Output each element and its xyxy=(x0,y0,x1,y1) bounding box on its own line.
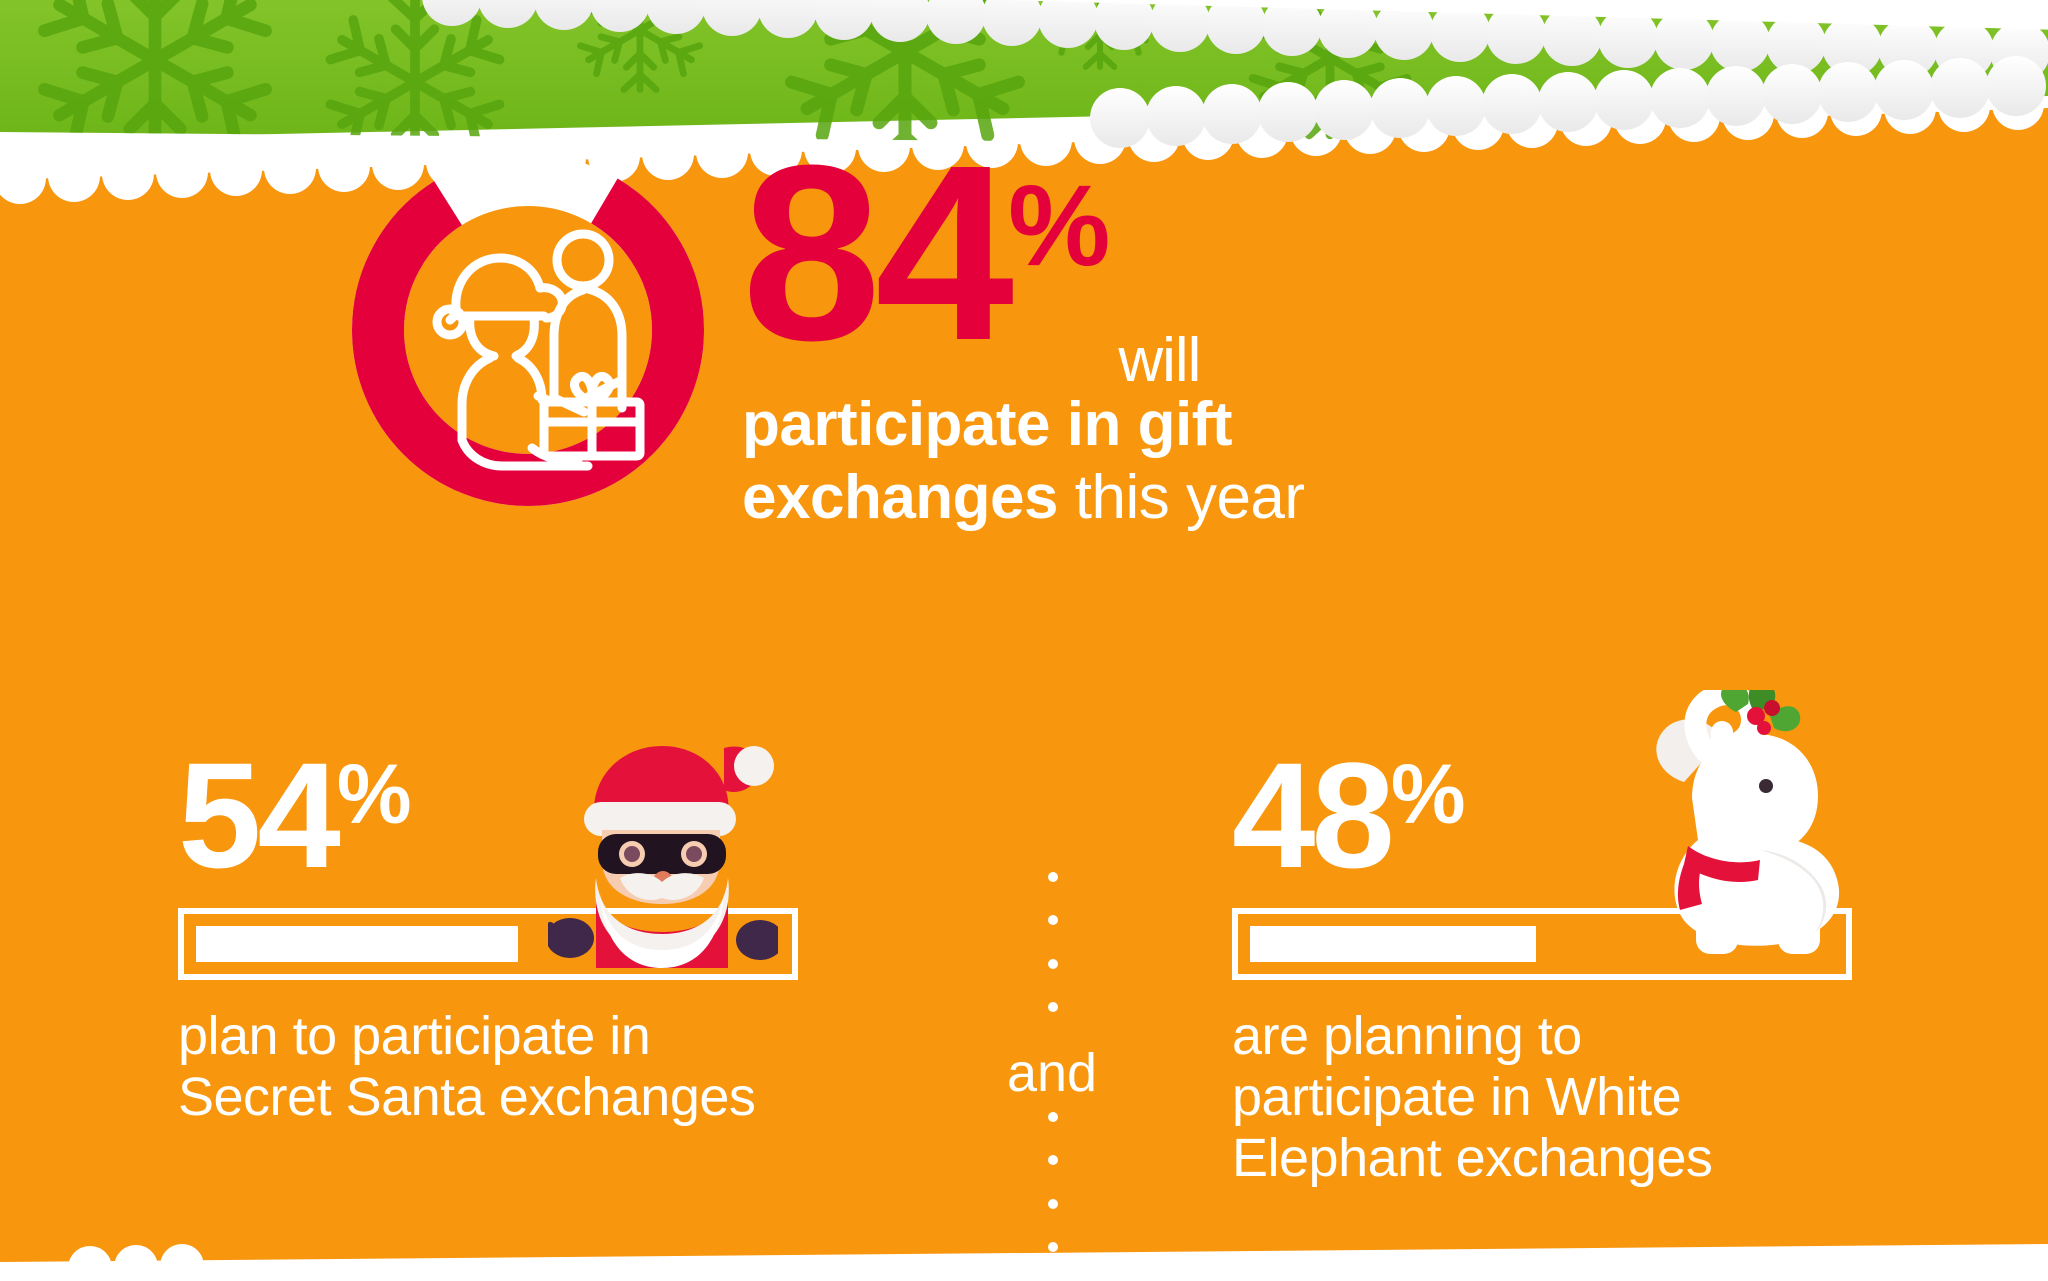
white-elephant-percent-symbol: % xyxy=(1391,746,1464,843)
hero-percent-symbol: % xyxy=(1008,160,1108,292)
infographic-canvas: 84%will participate in gift exchanges th… xyxy=(0,0,2048,1281)
gift-exchange-donut-chart xyxy=(338,140,718,520)
hero-statistic: 84%will participate in gift exchanges th… xyxy=(742,150,1462,534)
white-elephant-percentage-number: 48 xyxy=(1232,740,1391,890)
hero-caption-line3-regular: this year xyxy=(1058,463,1305,532)
divider-dot xyxy=(1048,915,1058,925)
divider-dot xyxy=(1048,959,1058,969)
white-elephant-caption-line1: are planning to xyxy=(1232,1006,1872,1067)
hero-lead-word: will xyxy=(1118,325,1200,396)
secret-santa-progress-fill xyxy=(196,926,518,962)
secret-santa-caption: plan to participate in Secret Santa exch… xyxy=(178,1006,818,1128)
hero-caption-line2: participate in gift xyxy=(742,390,1232,459)
white-elephant-progress-fill xyxy=(1250,926,1536,962)
holly-decoration xyxy=(1721,690,1800,735)
white-elephant-icon xyxy=(1640,690,1870,970)
white-elephant-caption: are planning to participate in White Ele… xyxy=(1232,1006,1872,1189)
hero-caption: participate in gift exchanges this year xyxy=(742,388,1462,534)
secret-santa-percentage-number: 54 xyxy=(178,740,337,890)
divider-dots-bottom xyxy=(1048,1112,1058,1252)
secret-santa-percent-symbol: % xyxy=(337,746,410,843)
donut-value-arc xyxy=(378,180,678,480)
secret-santa-caption-line1: plan to participate in xyxy=(178,1006,818,1067)
divider-dot xyxy=(1048,1242,1058,1252)
divider-dot xyxy=(1048,872,1058,882)
divider-dot xyxy=(1048,1155,1058,1165)
divider-dot xyxy=(1048,1002,1058,1012)
secret-santa-bandit-icon xyxy=(548,718,778,968)
hero-percentage-number: 84 xyxy=(742,150,1008,355)
white-elephant-caption-line2: participate in White xyxy=(1232,1067,1872,1128)
hero-caption-line3-bold: exchanges xyxy=(742,463,1058,532)
bottom-scallop xyxy=(68,1244,204,1281)
divider-dot xyxy=(1048,1112,1058,1122)
santa-mitten-left xyxy=(548,918,594,958)
secret-santa-caption-line2: Secret Santa exchanges xyxy=(178,1067,818,1128)
divider-dots-top xyxy=(1048,872,1058,1012)
white-elephant-caption-line3: Elephant exchanges xyxy=(1232,1128,1872,1189)
divider-dot xyxy=(1048,1199,1058,1209)
divider-label: and xyxy=(962,1042,1142,1104)
santa-mitten-right xyxy=(736,920,778,960)
